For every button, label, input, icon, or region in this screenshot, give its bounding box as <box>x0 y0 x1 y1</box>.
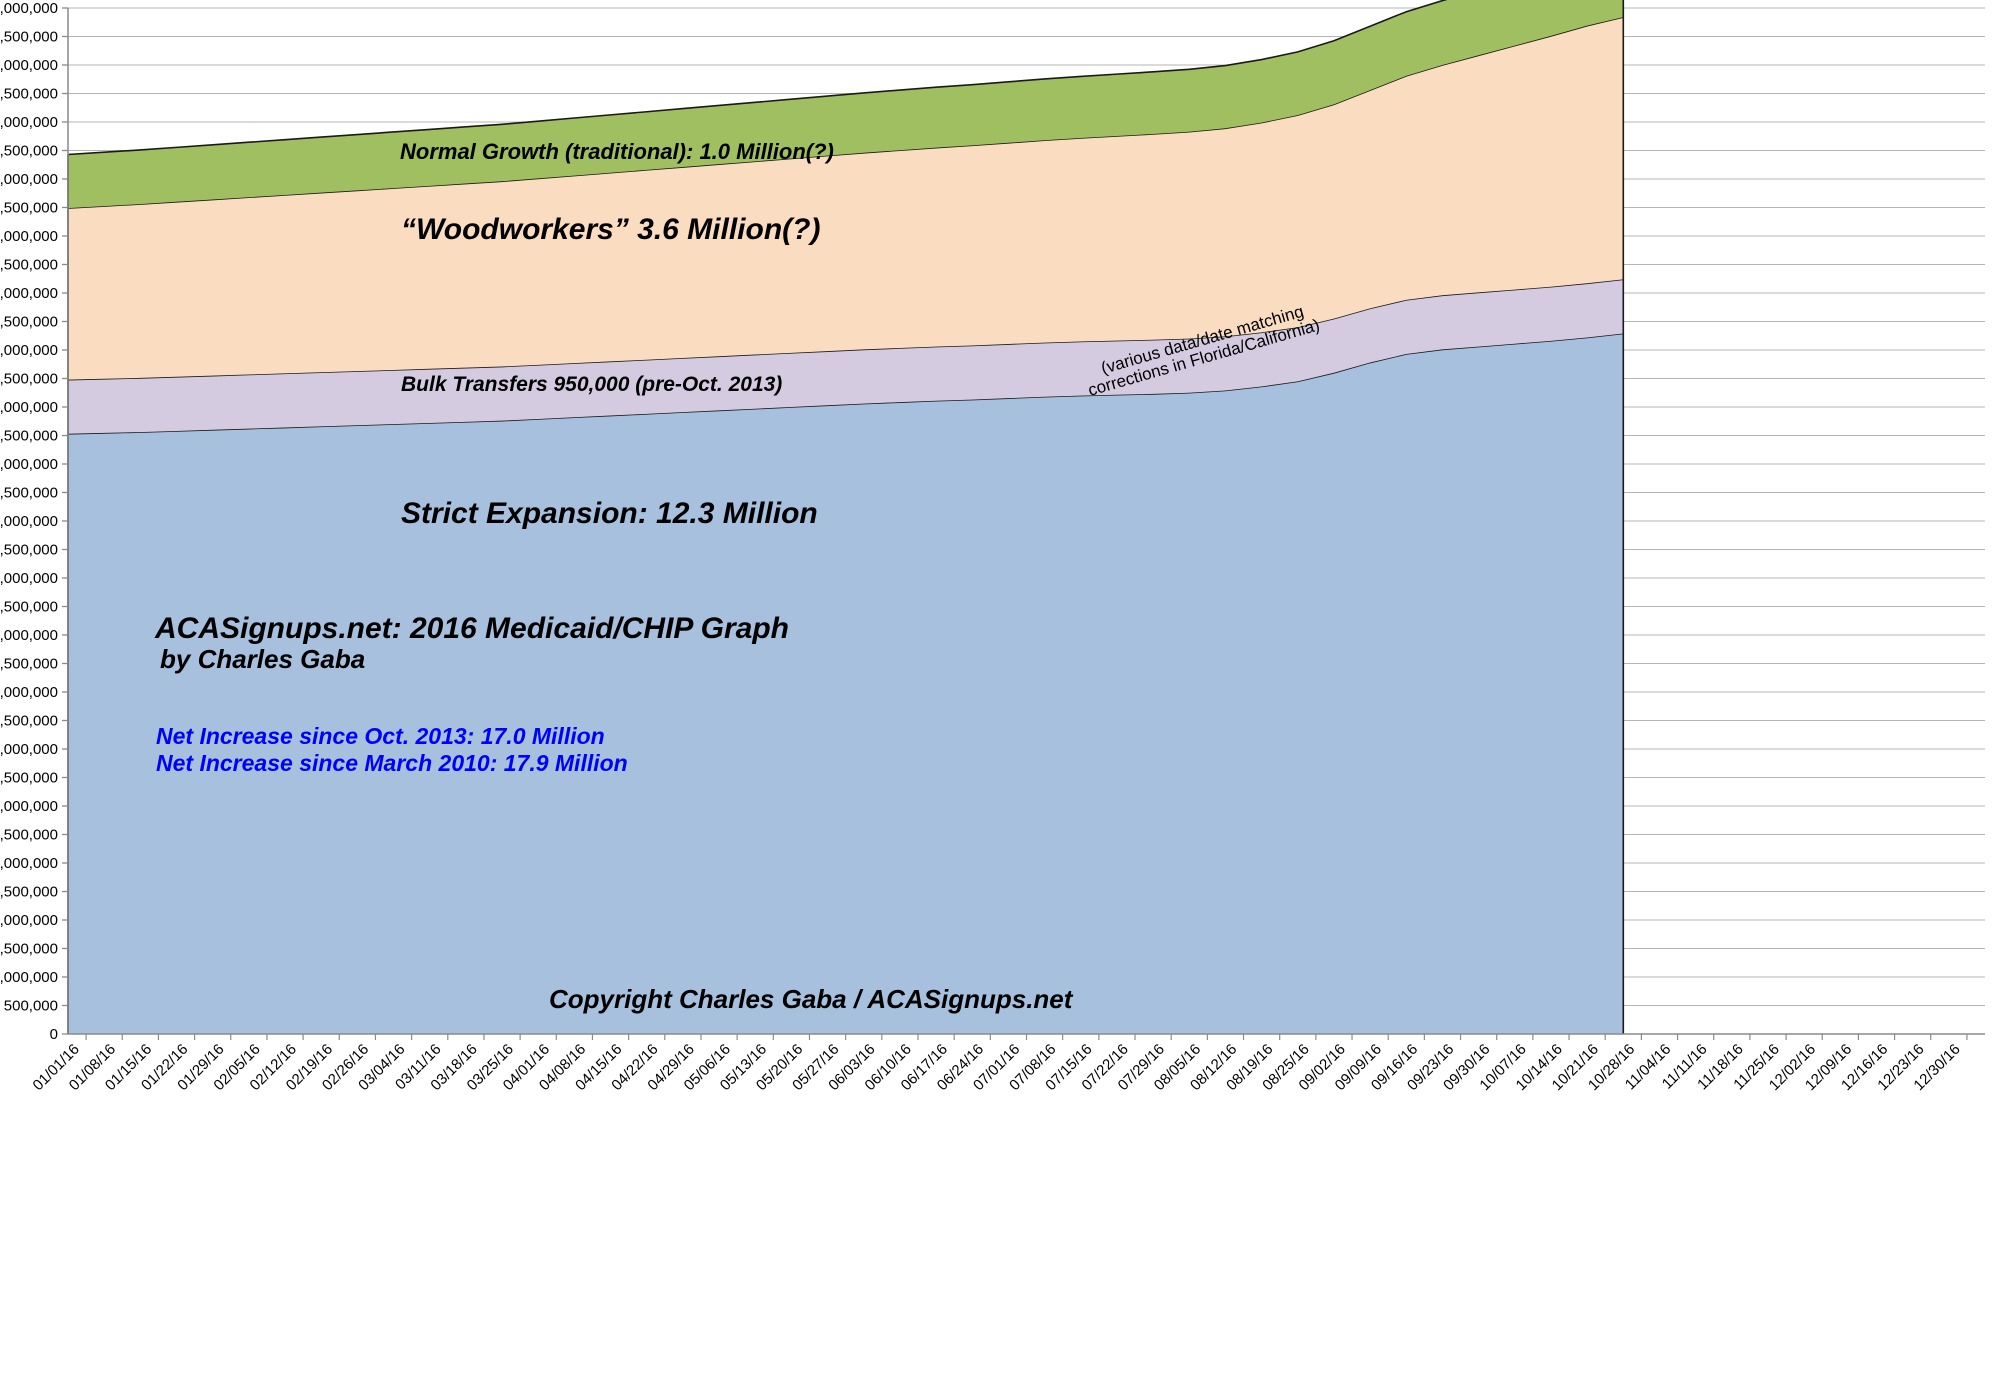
y-tick-label: 10,500,000 <box>0 428 58 445</box>
y-tick-label: 5,500,000 <box>0 713 58 730</box>
y-tick-label: 1,500,000 <box>0 941 58 958</box>
y-tick-label: 15,500,000 <box>0 143 58 160</box>
annotation-normal-growth: Normal Growth (traditional): 1.0 Million… <box>400 139 834 164</box>
y-tick-label: 16,500,000 <box>0 86 58 103</box>
y-tick-label: 15,000,000 <box>0 171 58 188</box>
y-tick-label: 6,500,000 <box>0 656 58 673</box>
y-tick-label: 2,500,000 <box>0 884 58 901</box>
chart-root: 0500,0001,000,0001,500,0002,000,0002,500… <box>0 0 2007 1397</box>
y-tick-label: 13,000,000 <box>0 285 58 302</box>
y-tick-label: 8,500,000 <box>0 542 58 559</box>
y-tick-label: 1,000,000 <box>0 969 58 986</box>
y-tick-label: 14,000,000 <box>0 228 58 245</box>
y-tick-label: 12,500,000 <box>0 314 58 331</box>
y-tick-label: 0 <box>50 1026 58 1043</box>
y-tick-label: 17,000,000 <box>0 57 58 74</box>
annotation-title: ACASignups.net: 2016 Medicaid/CHIP Graph <box>154 612 789 645</box>
y-tick-label: 18,000,000 <box>0 0 58 17</box>
y-tick-label: 7,500,000 <box>0 599 58 616</box>
y-tick-label: 11,000,000 <box>0 399 58 416</box>
y-tick-label: 5,000,000 <box>0 741 58 758</box>
y-tick-label: 11,500,000 <box>0 371 58 388</box>
annotation-strict-expansion: Strict Expansion: 12.3 Million <box>401 497 818 530</box>
x-axis-tick-labels: 01/01/1601/08/1601/15/1601/22/1601/29/16… <box>30 1034 1967 1094</box>
annotation-net-increase-2010: Net Increase since March 2010: 17.9 Mill… <box>156 750 628 776</box>
y-tick-label: 16,000,000 <box>0 114 58 131</box>
y-tick-label: 3,000,000 <box>0 855 58 872</box>
annotation-woodworkers: “Woodworkers” 3.6 Million(?) <box>401 213 820 246</box>
y-tick-label: 7,000,000 <box>0 627 58 644</box>
annotation-byline: by Charles Gaba <box>160 644 365 674</box>
annotation-copyright: Copyright Charles Gaba / ACASignups.net <box>549 984 1074 1014</box>
y-tick-label: 17,500,000 <box>0 29 58 46</box>
y-tick-label: 13,500,000 <box>0 257 58 274</box>
y-tick-label: 9,500,000 <box>0 485 58 502</box>
annotation-bulk-transfers: Bulk Transfers 950,000 (pre-Oct. 2013) <box>401 373 782 396</box>
y-tick-label: 8,000,000 <box>0 570 58 587</box>
y-tick-label: 3,500,000 <box>0 827 58 844</box>
y-tick-label: 14,500,000 <box>0 200 58 217</box>
y-tick-label: 9,000,000 <box>0 513 58 530</box>
medicaid-chip-stacked-area-chart: 0500,0001,000,0001,500,0002,000,0002,500… <box>0 0 2007 1397</box>
y-tick-label: 500,000 <box>4 998 58 1015</box>
area-series-group <box>68 0 1623 1034</box>
annotation-net-increase-2013: Net Increase since Oct. 2013: 17.0 Milli… <box>156 723 605 749</box>
y-axis-tick-labels: 0500,0001,000,0001,500,0002,000,0002,500… <box>0 0 68 1043</box>
y-tick-label: 2,000,000 <box>0 912 58 929</box>
y-tick-label: 4,000,000 <box>0 798 58 815</box>
y-tick-label: 12,000,000 <box>0 342 58 359</box>
y-tick-label: 6,000,000 <box>0 684 58 701</box>
y-tick-label: 10,000,000 <box>0 456 58 473</box>
y-tick-label: 4,500,000 <box>0 770 58 787</box>
